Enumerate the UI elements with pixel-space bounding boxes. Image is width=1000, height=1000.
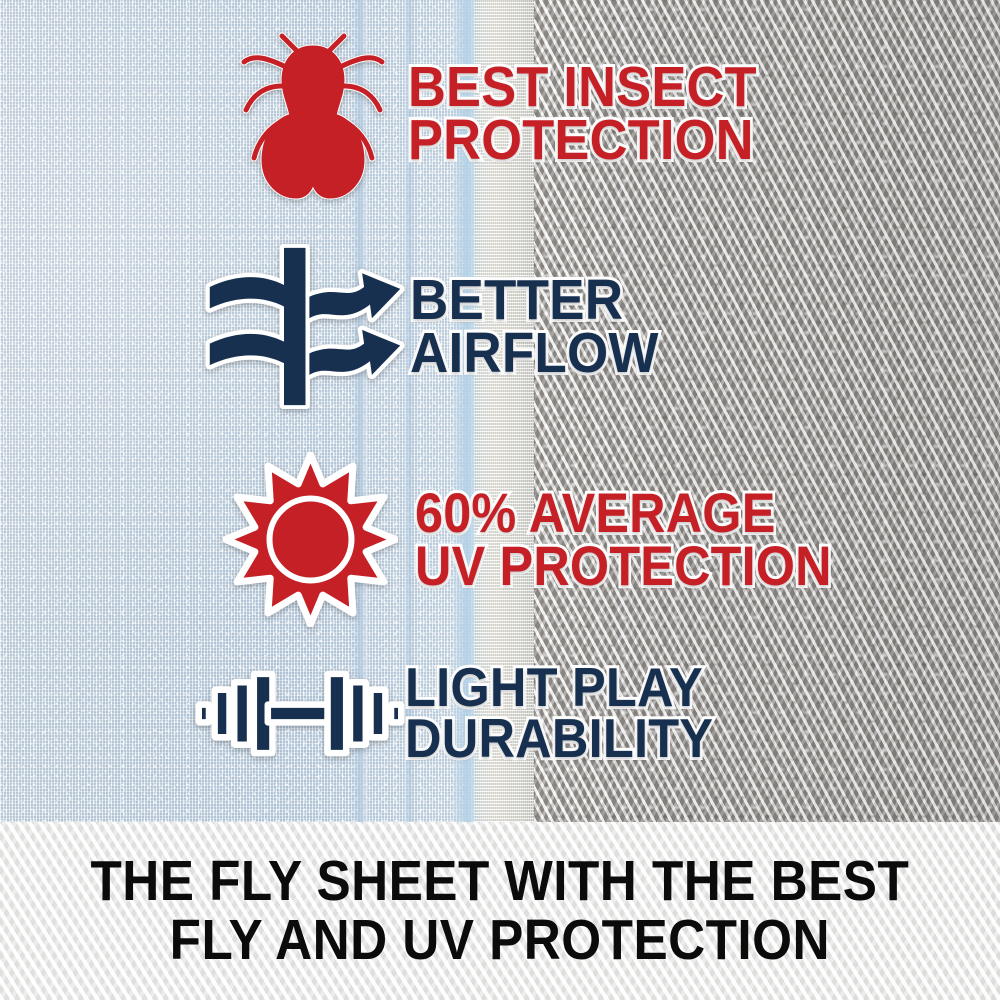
feature-text-insect-protection: Best Insect Protection — [408, 61, 757, 167]
feature-line-1: Light Play — [405, 662, 713, 713]
feature-line-1: Better — [410, 274, 659, 327]
feature-row-better-airflow: Better Airflow — [200, 244, 677, 409]
feature-text-better-airflow: Better Airflow — [410, 274, 659, 380]
feature-line-2: Airflow — [410, 327, 659, 380]
feature-row-durability: Light Play Durability — [195, 662, 740, 764]
fly-icon — [238, 24, 388, 204]
infographic-poster: Best Insect Protection — [0, 0, 1000, 1000]
feature-line-2: Durability — [405, 713, 713, 764]
dumbbell-icon — [195, 666, 405, 761]
sun-icon — [223, 452, 398, 627]
feature-list: Best Insect Protection — [0, 0, 1000, 822]
feature-line-1: Best Insect — [408, 61, 757, 114]
bottom-tagline-banner: The Fly Sheet with the Best Fly and UV P… — [0, 822, 1000, 1000]
feature-line-1: 60% Average — [415, 487, 832, 539]
tagline-line-1: The Fly Sheet with the Best — [91, 852, 910, 911]
fly-icon-slot — [218, 24, 408, 204]
feature-text-uv-protection: 60% Average UV Protection — [415, 487, 832, 591]
tagline-line-2: Fly and UV Protection — [170, 911, 830, 970]
feature-row-uv-protection: 60% Average UV Protection — [205, 452, 878, 627]
feature-row-insect-protection: Best Insect Protection — [218, 24, 787, 204]
sun-icon-slot — [205, 452, 415, 627]
feature-text-durability: Light Play Durability — [405, 662, 713, 764]
airflow-icon-slot — [200, 244, 410, 409]
feature-line-2: Protection — [408, 114, 757, 167]
airflow-icon — [200, 244, 410, 409]
feature-line-2: UV Protection — [415, 540, 832, 592]
dumbbell-icon-slot — [195, 666, 405, 761]
